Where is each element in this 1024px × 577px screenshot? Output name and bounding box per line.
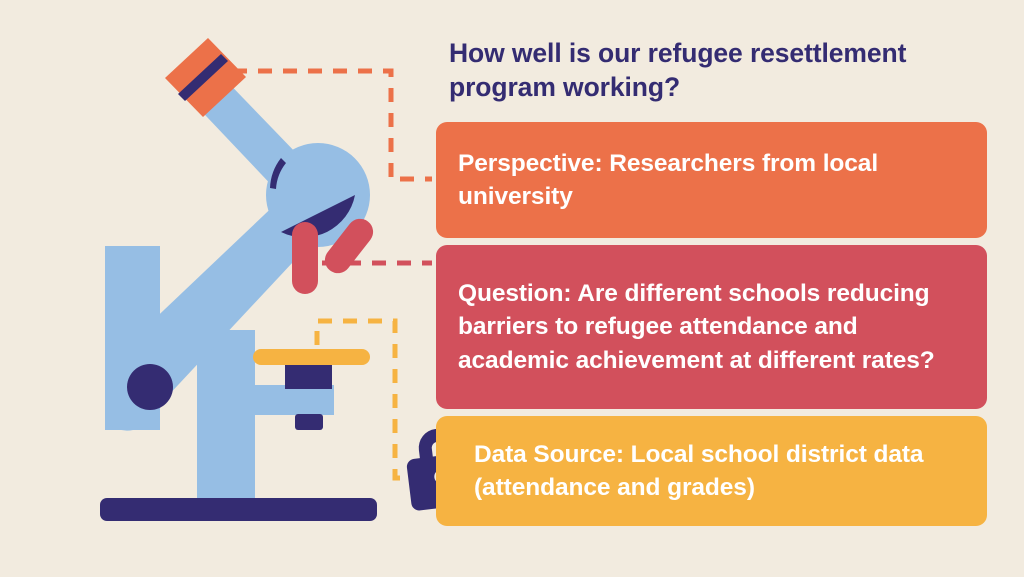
page-title: How well is our refugee resettlement pro… — [449, 37, 994, 105]
card-data-source: Data Source: Local school district data … — [436, 416, 987, 526]
card-question-text: Question: Are different schools reducing… — [458, 277, 965, 377]
card-perspective: Perspective: Researchers from local univ… — [436, 122, 987, 238]
infographic-canvas: How well is our refugee resettlement pro… — [0, 0, 1024, 577]
card-data-source-text: Data Source: Local school district data … — [474, 438, 965, 505]
card-perspective-text: Perspective: Researchers from local univ… — [458, 147, 965, 214]
content-layer: How well is our refugee resettlement pro… — [0, 0, 1024, 577]
card-question: Question: Are different schools reducing… — [436, 245, 987, 409]
